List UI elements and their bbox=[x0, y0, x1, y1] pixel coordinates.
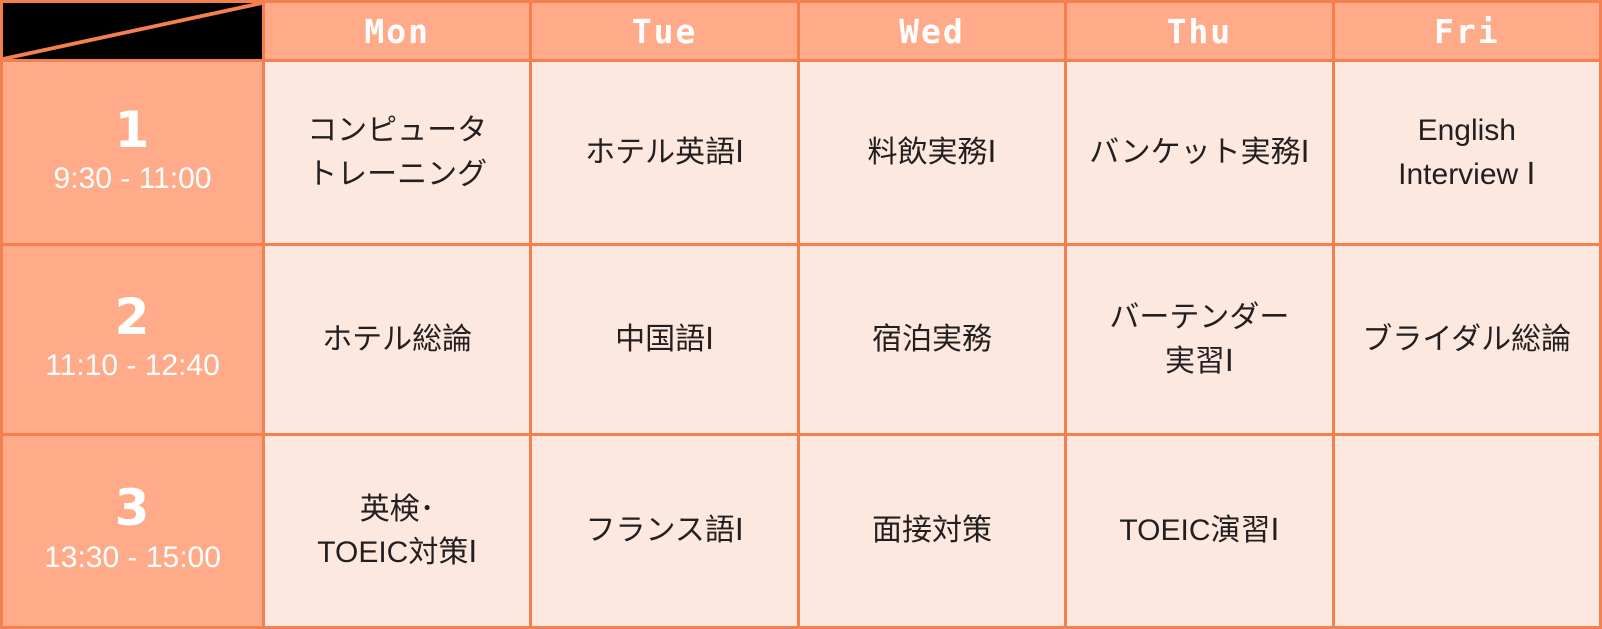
subject-cell-tue-1: ホテル英語Ⅰ bbox=[531, 61, 798, 245]
period-cell-2: 2 11:10 - 12:40 bbox=[2, 245, 264, 435]
corner-cell-diagonal bbox=[2, 2, 264, 61]
subject-cell-fri-3 bbox=[1333, 435, 1600, 628]
timetable-body: 1 9:30 - 11:00 コンピュータ トレーニング ホテル英語Ⅰ 料飲実務… bbox=[2, 61, 1601, 628]
subject-cell-thu-1: バンケット実務Ⅰ bbox=[1066, 61, 1333, 245]
day-header-label: Tue bbox=[632, 12, 698, 51]
period-time-range: 13:30 - 15:00 bbox=[3, 535, 262, 580]
period-time-range: 9:30 - 11:00 bbox=[3, 156, 262, 201]
day-header-tue: Tue bbox=[531, 2, 798, 61]
weekly-timetable: Mon Tue Wed Thu Fri 1 9:30 - 11:00 コンピュー… bbox=[0, 0, 1602, 629]
subject-cell-wed-1: 料飲実務Ⅰ bbox=[798, 61, 1065, 245]
day-header-thu: Thu bbox=[1066, 2, 1333, 61]
period-cell-1: 1 9:30 - 11:00 bbox=[2, 61, 264, 245]
timetable-header: Mon Tue Wed Thu Fri bbox=[2, 2, 1601, 61]
period-number: 1 bbox=[3, 104, 262, 157]
day-header-fri: Fri bbox=[1333, 2, 1600, 61]
subject-cell-mon-1: コンピュータ トレーニング bbox=[264, 61, 531, 245]
period-number: 3 bbox=[3, 482, 262, 535]
subject-cell-thu-2: バーテンダー 実習Ⅰ bbox=[1066, 245, 1333, 435]
subject-cell-wed-3: 面接対策 bbox=[798, 435, 1065, 628]
subject-cell-mon-2: ホテル総論 bbox=[264, 245, 531, 435]
period-time-range: 11:10 - 12:40 bbox=[3, 343, 262, 388]
table-row: 1 9:30 - 11:00 コンピュータ トレーニング ホテル英語Ⅰ 料飲実務… bbox=[2, 61, 1601, 245]
table-row: 2 11:10 - 12:40 ホテル総論 中国語Ⅰ 宿泊実務 バーテンダー 実… bbox=[2, 245, 1601, 435]
day-header-mon: Mon bbox=[264, 2, 531, 61]
table-row: 3 13:30 - 15:00 英検･ TOEIC対策Ⅰ フランス語Ⅰ 面接対策… bbox=[2, 435, 1601, 628]
subject-cell-tue-3: フランス語Ⅰ bbox=[531, 435, 798, 628]
subject-cell-wed-2: 宿泊実務 bbox=[798, 245, 1065, 435]
period-cell-3: 3 13:30 - 15:00 bbox=[2, 435, 264, 628]
subject-cell-fri-2: ブライダル総論 bbox=[1333, 245, 1600, 435]
day-header-wed: Wed bbox=[798, 2, 1065, 61]
day-header-label: Thu bbox=[1167, 12, 1233, 51]
day-header-label: Fri bbox=[1434, 12, 1500, 51]
diagonal-line-icon bbox=[3, 3, 262, 59]
subject-cell-thu-3: TOEIC演習Ⅰ bbox=[1066, 435, 1333, 628]
subject-cell-mon-3: 英検･ TOEIC対策Ⅰ bbox=[264, 435, 531, 628]
day-header-label: Wed bbox=[899, 12, 965, 51]
subject-cell-tue-2: 中国語Ⅰ bbox=[531, 245, 798, 435]
header-row: Mon Tue Wed Thu Fri bbox=[2, 2, 1601, 61]
period-number: 2 bbox=[3, 291, 262, 344]
subject-cell-fri-1: English Interview Ⅰ bbox=[1333, 61, 1600, 245]
day-header-label: Mon bbox=[364, 12, 430, 51]
